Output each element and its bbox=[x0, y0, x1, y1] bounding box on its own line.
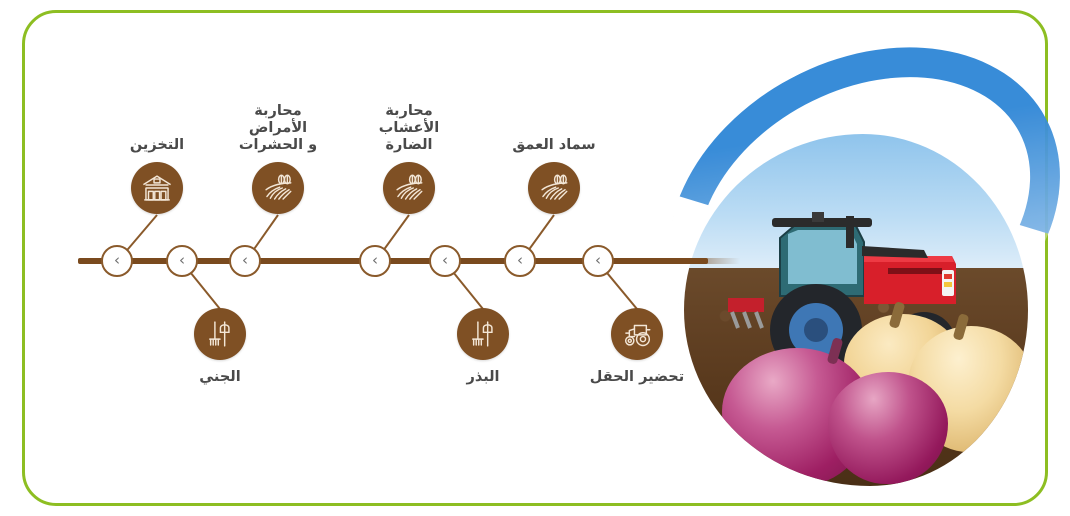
chevron-left-icon: ‹ bbox=[179, 253, 185, 268]
field-crop-icon[interactable] bbox=[528, 162, 580, 214]
timeline-marker[interactable]: ‹ bbox=[229, 245, 261, 277]
tractor-icon[interactable] bbox=[611, 308, 663, 360]
stage-deep-fertilizer[interactable]: سماد العمق bbox=[528, 162, 580, 214]
red-tractor-photo bbox=[728, 212, 978, 382]
field-crop-icon[interactable] bbox=[252, 162, 304, 214]
stage-weed-control[interactable]: محاربة الأعشاب الضارة bbox=[383, 162, 435, 214]
timeline-axis-fade bbox=[660, 258, 740, 264]
timeline-marker[interactable]: ‹ bbox=[429, 245, 461, 277]
yellow-onion-right-neck bbox=[953, 313, 970, 341]
stage-storage[interactable]: التخزين bbox=[131, 162, 183, 214]
red-onion-large-neck bbox=[827, 337, 844, 365]
stage-sowing[interactable]: البذر bbox=[457, 308, 509, 360]
chevron-left-icon: ‹ bbox=[595, 253, 601, 268]
onion-cluster bbox=[712, 310, 1012, 486]
teardrop-photo-mask bbox=[684, 134, 1028, 486]
rake-shovel-icon[interactable] bbox=[457, 308, 509, 360]
stage-field-preparation-label: تحضير الحقل bbox=[567, 369, 707, 386]
yellow-onion-left-neck bbox=[889, 301, 906, 329]
stage-storage-label: التخزين bbox=[87, 137, 227, 154]
stage-sowing-label: البذر bbox=[413, 369, 553, 386]
stage-harvest[interactable]: الجني bbox=[194, 308, 246, 360]
timeline-marker[interactable]: ‹ bbox=[359, 245, 391, 277]
yellow-onion-left bbox=[844, 314, 962, 422]
chevron-left-icon: ‹ bbox=[442, 253, 448, 268]
timeline-marker[interactable]: ‹ bbox=[101, 245, 133, 277]
timeline-marker[interactable]: ‹ bbox=[504, 245, 536, 277]
red-onion-small bbox=[828, 372, 948, 484]
stage-deep-fertilizer-label: سماد العمق bbox=[484, 137, 624, 154]
chevron-left-icon: ‹ bbox=[242, 253, 248, 268]
blue-sky-swoosh bbox=[648, 22, 1060, 449]
rake-shovel-icon[interactable] bbox=[194, 308, 246, 360]
stage-field-preparation[interactable]: تحضير الحقل bbox=[611, 308, 663, 360]
barn-storage-icon[interactable] bbox=[131, 162, 183, 214]
yellow-onion-right bbox=[908, 326, 1028, 452]
chevron-left-icon: ‹ bbox=[517, 253, 523, 268]
stage-harvest-label: الجني bbox=[150, 369, 290, 386]
red-onion-large bbox=[722, 348, 872, 486]
ploughed-soil-photo bbox=[684, 268, 1028, 486]
chevron-left-icon: ‹ bbox=[372, 253, 378, 268]
stage-pest-disease-control-label: محاربة الأمراض و الحشرات bbox=[208, 103, 348, 154]
timeline-marker[interactable]: ‹ bbox=[166, 245, 198, 277]
timeline-marker[interactable]: ‹ bbox=[582, 245, 614, 277]
stage-weed-control-label: محاربة الأعشاب الضارة bbox=[339, 103, 479, 154]
stage-pest-disease-control[interactable]: محاربة الأمراض و الحشرات bbox=[252, 162, 304, 214]
infographic-canvas: ‹‹‹‹‹‹‹التخزينمحاربة الأمراض و الحشراتمح… bbox=[0, 0, 1070, 516]
field-crop-icon[interactable] bbox=[383, 162, 435, 214]
chevron-left-icon: ‹ bbox=[114, 253, 120, 268]
